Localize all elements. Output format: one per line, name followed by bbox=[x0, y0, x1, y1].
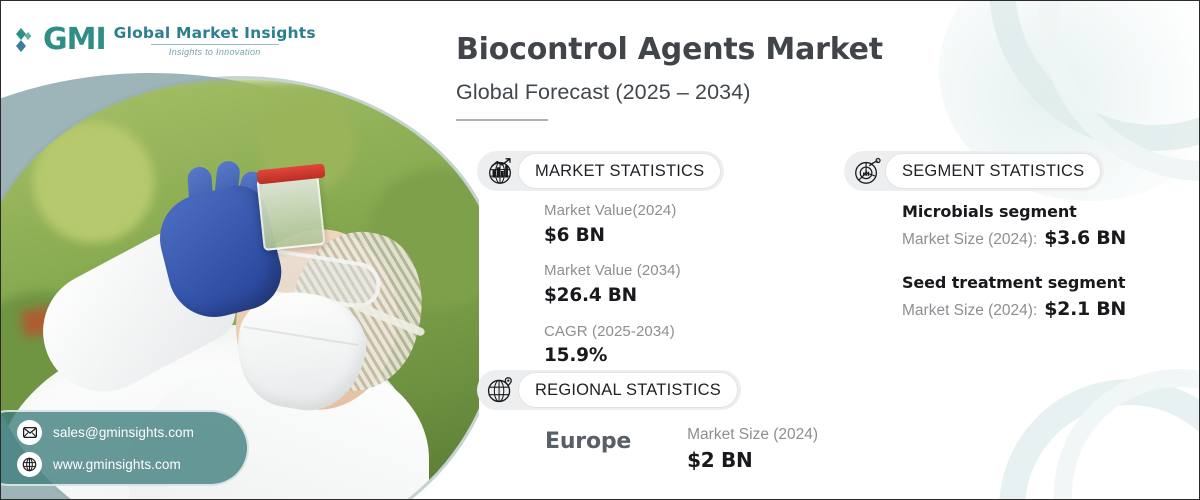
segment-sub-label: Market Size (2024): bbox=[902, 228, 1037, 251]
market-stat-value: $6 BN bbox=[544, 223, 681, 249]
globe-bar-chart-icon bbox=[482, 153, 518, 189]
market-statistics-pill[interactable]: MARKET STATISTICS bbox=[477, 151, 724, 191]
gmi-company-name: Global Market Insights bbox=[114, 24, 316, 42]
segment-sub-label: Market Size (2024): bbox=[902, 299, 1037, 322]
segment-value-line: Market Size (2024): $2.1 BN bbox=[902, 295, 1126, 324]
segment-name: Seed treatment segment bbox=[902, 271, 1126, 295]
gmi-wordmark: GMI bbox=[43, 25, 106, 55]
market-stat-label: Market Value(2024) bbox=[544, 200, 681, 223]
market-stat-row: CAGR (2025-2034) 15.9% bbox=[544, 321, 681, 369]
regional-statistics-label: REGIONAL STATISTICS bbox=[518, 372, 738, 408]
segment-statistics-items: Microbials segment Market Size (2024): $… bbox=[902, 200, 1126, 341]
market-stat-value: $26.4 BN bbox=[544, 283, 681, 309]
region-name: Europe bbox=[545, 423, 631, 454]
region-sub-label: Market Size (2024) bbox=[687, 423, 818, 447]
page-title: Biocontrol Agents Market bbox=[456, 33, 1156, 68]
regional-statistics-row: Europe Market Size (2024) $2 BN bbox=[545, 423, 818, 474]
market-statistics-rows: Market Value(2024) $6 BN Market Value (2… bbox=[544, 200, 681, 369]
gmi-diamonds-icon bbox=[15, 23, 35, 57]
title-divider bbox=[456, 119, 548, 122]
gmi-tagline: Insights to Innovation bbox=[169, 47, 261, 57]
envelope-icon bbox=[17, 420, 42, 445]
segment-name: Microbials segment bbox=[902, 200, 1126, 224]
donut-chart-arrow-icon bbox=[849, 153, 885, 189]
segment-value: $3.6 BN bbox=[1044, 224, 1126, 253]
market-stat-value: 15.9% bbox=[544, 343, 681, 369]
market-stat-label: CAGR (2025-2034) bbox=[544, 321, 681, 344]
segment-item: Microbials segment Market Size (2024): $… bbox=[902, 200, 1126, 253]
market-statistics-label: MARKET STATISTICS bbox=[518, 153, 721, 189]
specimen-jar bbox=[256, 173, 325, 251]
contact-website-row[interactable]: www.gminsights.com bbox=[17, 452, 247, 477]
contact-pill: sales@gminsights.com www.gminsights.com bbox=[0, 410, 249, 486]
segment-statistics-label: SEGMENT STATISTICS bbox=[885, 153, 1101, 189]
infographic-canvas: sales@gminsights.com www.gminsights.com … bbox=[0, 0, 1200, 500]
contact-email-row[interactable]: sales@gminsights.com bbox=[17, 420, 247, 445]
segment-statistics-pill[interactable]: SEGMENT STATISTICS bbox=[844, 151, 1104, 191]
region-value: $2 BN bbox=[687, 447, 818, 474]
segment-value: $2.1 BN bbox=[1044, 295, 1126, 324]
globe-pin-icon bbox=[482, 372, 518, 408]
globe-icon bbox=[17, 452, 42, 477]
segment-value-line: Market Size (2024): $3.6 BN bbox=[902, 224, 1126, 253]
market-stat-row: Market Value (2034) $26.4 BN bbox=[544, 260, 681, 308]
gmi-logo[interactable]: GMI Global Market Insights Insights to I… bbox=[15, 23, 316, 57]
gmi-logo-divider bbox=[151, 44, 279, 45]
decorative-arc-bottom-right-2 bbox=[1054, 369, 1200, 500]
segment-item: Seed treatment segment Market Size (2024… bbox=[902, 271, 1126, 324]
page-subtitle: Global Forecast (2025 – 2034) bbox=[456, 80, 1156, 105]
region-value-block: Market Size (2024) $2 BN bbox=[687, 423, 818, 474]
market-stat-row: Market Value(2024) $6 BN bbox=[544, 200, 681, 248]
header-block: Biocontrol Agents Market Global Forecast… bbox=[456, 33, 1156, 121]
gmi-brand-text: Global Market Insights Insights to Innov… bbox=[114, 24, 316, 57]
regional-statistics-pill[interactable]: REGIONAL STATISTICS bbox=[477, 370, 741, 410]
market-stat-label: Market Value (2034) bbox=[544, 260, 681, 283]
contact-website-text: www.gminsights.com bbox=[53, 457, 181, 472]
contact-email-text: sales@gminsights.com bbox=[53, 425, 194, 440]
